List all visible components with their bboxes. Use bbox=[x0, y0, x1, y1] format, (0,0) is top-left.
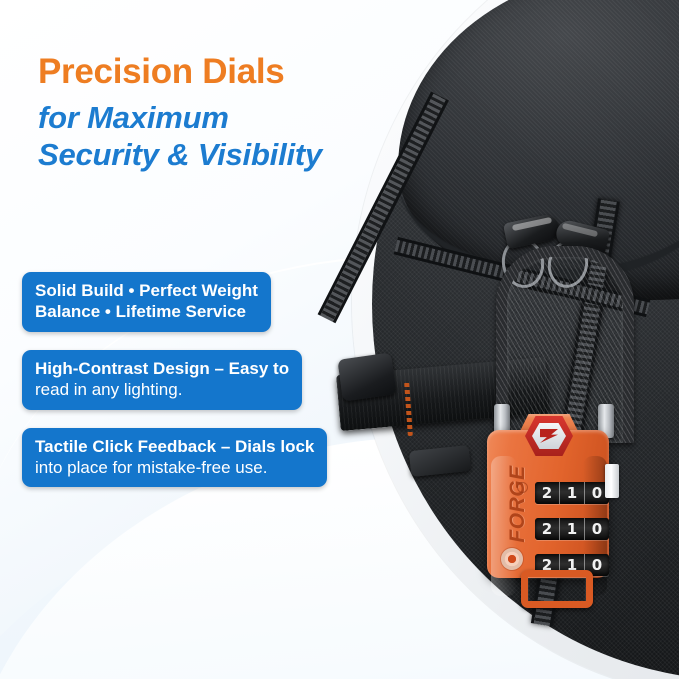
callout-3-line-1: Tactile Click Feedback – Dials lock bbox=[35, 436, 314, 457]
dial-row-2[interactable]: 2 1 0 bbox=[535, 518, 609, 540]
tsa-badge-inner bbox=[532, 423, 566, 449]
brand-registered-icon bbox=[517, 482, 528, 493]
callout-solid-build: Solid Build • Perfect Weight Balance • L… bbox=[22, 272, 271, 332]
dial-1-digit-2[interactable]: 1 bbox=[560, 482, 585, 504]
dial-row-1[interactable]: 2 1 0 bbox=[535, 482, 609, 504]
dial-2-digit-2[interactable]: 1 bbox=[560, 518, 585, 540]
dial-1-digit-1[interactable]: 2 bbox=[535, 482, 560, 504]
callout-2-line-1: High-Contrast Design – Easy to bbox=[35, 358, 289, 379]
lock-bottom-loop bbox=[521, 570, 593, 608]
dial-2-digit-1[interactable]: 2 bbox=[535, 518, 560, 540]
reset-pin[interactable] bbox=[605, 464, 619, 498]
dial-stack: 2 1 0 2 1 0 2 1 0 bbox=[535, 480, 609, 582]
dial-2-digit-3[interactable]: 0 bbox=[585, 518, 609, 540]
headline-block: Precision Dials for Maximum Security & V… bbox=[38, 52, 418, 173]
callout-2-line-2: read in any lighting. bbox=[35, 379, 289, 400]
headline-line-1: Precision Dials bbox=[38, 52, 418, 93]
brand-label: FORGE bbox=[506, 456, 530, 552]
tsa-badge-mark bbox=[540, 429, 558, 443]
combination-lock: FORGE ® 2 1 0 2 1 0 2 bbox=[487, 408, 615, 584]
callout-1-line-1: Solid Build • Perfect Weight bbox=[35, 280, 258, 301]
gear-logo-icon bbox=[501, 548, 523, 570]
callout-tactile-click-feedback: Tactile Click Feedback – Dials lock into… bbox=[22, 428, 327, 488]
callout-3-line-2: into place for mistake-free use. bbox=[35, 457, 314, 478]
headline-line-3: Security & Visibility bbox=[38, 136, 418, 173]
feature-callout-list: Solid Build • Perfect Weight Balance • L… bbox=[22, 272, 370, 505]
headline-line-2: for Maximum bbox=[38, 99, 418, 136]
callout-high-contrast-design: High-Contrast Design – Easy to read in a… bbox=[22, 350, 302, 410]
callout-1-line-2: Balance • Lifetime Service bbox=[35, 301, 258, 322]
product-marketing-image: FORGE ® 2 1 0 2 1 0 2 bbox=[0, 0, 679, 679]
